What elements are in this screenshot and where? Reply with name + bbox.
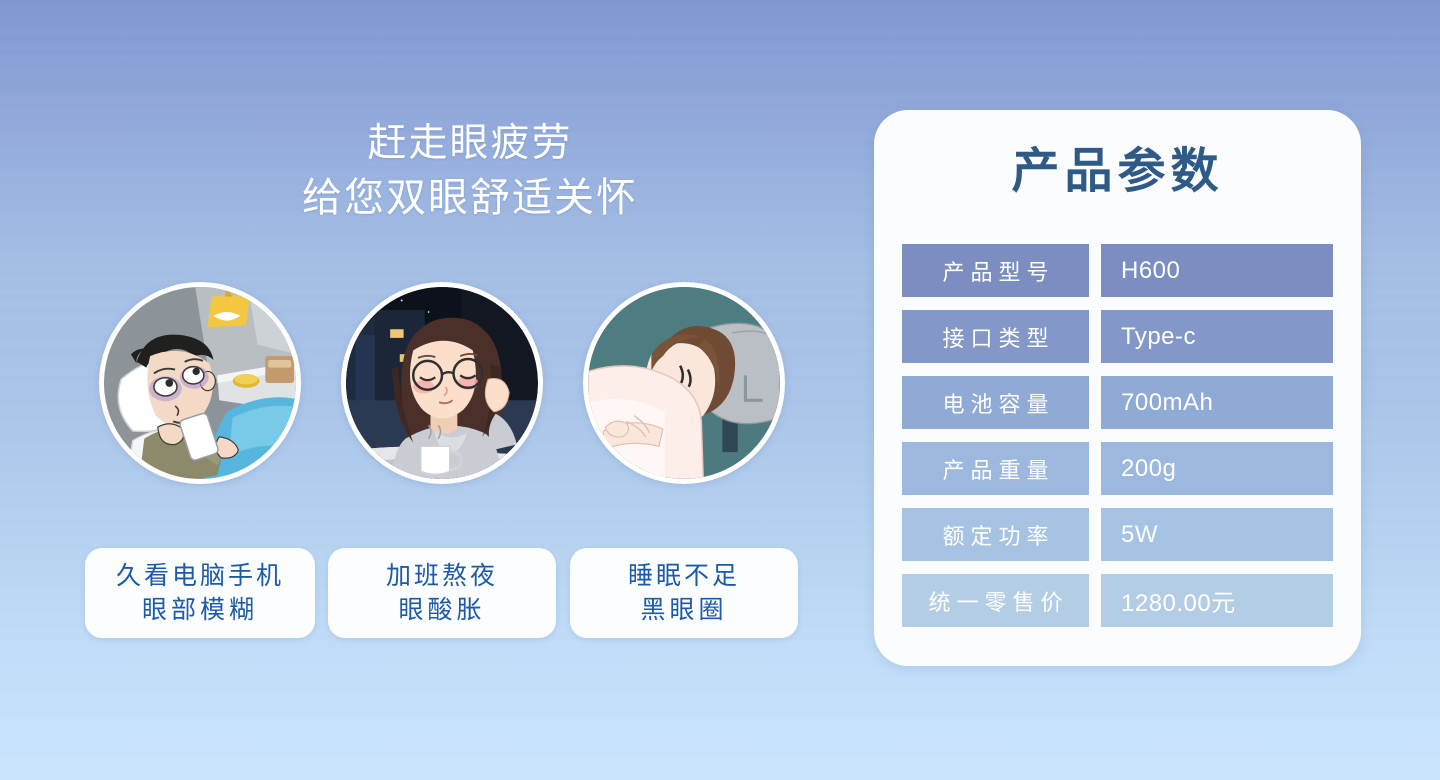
headline: 赶走眼疲劳 给您双眼舒适关怀 [160,118,780,226]
symptom-caption-3: 睡眠不足 黑眼圈 [570,548,798,638]
spec-row: 电池容量 700mAh [902,376,1333,429]
symptom-caption-1-line-2: 眼部模糊 [142,593,258,627]
symptom-caption-3-line-1: 睡眠不足 [628,559,740,593]
headline-line-2: 给您双眼舒适关怀 [160,170,780,226]
headline-line-1: 赶走眼疲劳 [160,118,780,170]
spec-key: 额定功率 [902,508,1089,561]
symptom-image-3 [583,282,785,484]
symptom-image-2 [341,282,543,484]
spec-value: Type-c [1101,310,1333,363]
symptom-caption-1: 久看电脑手机 眼部模糊 [85,548,315,638]
spec-value: H600 [1101,244,1333,297]
symptom-caption-2: 加班熬夜 眼酸胀 [328,548,556,638]
spec-key: 电池容量 [902,376,1089,429]
spec-key: 统一零售价 [902,574,1089,627]
spec-row: 接口类型 Type-c [902,310,1333,363]
spec-row: 额定功率 5W [902,508,1333,561]
promo-banner: 赶走眼疲劳 给您双眼舒适关怀 [0,0,1440,780]
spec-key: 产品型号 [902,244,1089,297]
symptom-caption-2-line-2: 眼酸胀 [398,593,485,627]
spec-row: 统一零售价 1280.00元 [902,574,1333,627]
spec-table: 产品型号 H600 接口类型 Type-c 电池容量 700mAh 产品重量 2… [902,244,1333,627]
spec-value: 200g [1101,442,1333,495]
symptom-caption-2-line-1: 加班熬夜 [386,559,498,593]
spec-panel-title: 产品参数 [874,140,1361,204]
spec-key: 产品重量 [902,442,1089,495]
spec-row: 产品重量 200g [902,442,1333,495]
spec-value: 1280.00元 [1101,574,1333,627]
spec-row: 产品型号 H600 [902,244,1333,297]
spec-key: 接口类型 [902,310,1089,363]
symptom-caption-3-line-2: 黑眼圈 [640,593,727,627]
symptom-caption-1-line-1: 久看电脑手机 [116,559,284,593]
product-spec-panel: 产品参数 产品型号 H600 接口类型 Type-c 电池容量 700mAh 产… [874,110,1361,666]
spec-value: 5W [1101,508,1333,561]
spec-value: 700mAh [1101,376,1333,429]
symptom-image-1 [99,282,301,484]
